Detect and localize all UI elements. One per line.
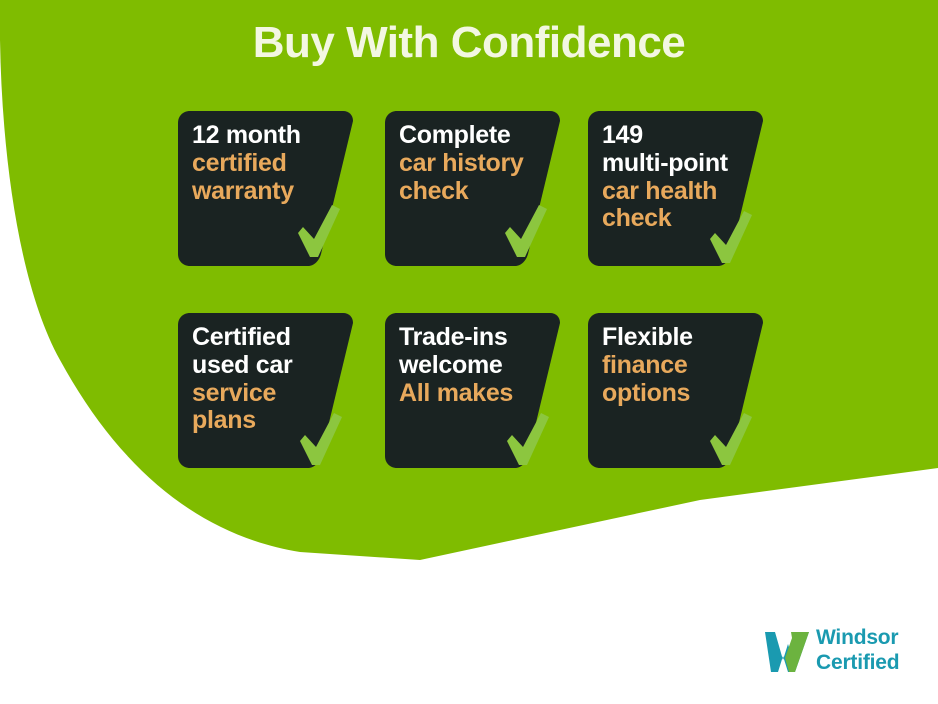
feature-card-trade-ins-welcome-all-makes[interactable]: Trade-ins welcome All makes [385, 313, 560, 468]
card-line: 149 [602, 122, 752, 150]
card-line: certified [192, 150, 342, 178]
check-mark-icon [708, 411, 754, 469]
card-line: car history [399, 150, 549, 178]
card-line: multi-point [602, 150, 752, 178]
poster-canvas: Buy With Confidence 12 month certified w… [0, 0, 938, 704]
card-line: Trade-ins [399, 324, 549, 352]
windsor-w-icon [764, 630, 810, 674]
card-line: Flexible [602, 324, 752, 352]
card-text: Flexible finance options [602, 324, 752, 407]
card-line: Certified [192, 324, 342, 352]
brand-logo[interactable]: Windsor Certified [764, 626, 924, 682]
feature-card-flexible-finance-options[interactable]: Flexible finance options [588, 313, 763, 468]
card-line: All makes [399, 380, 549, 408]
card-line: 12 month [192, 122, 342, 150]
logo-line-2: Certified [816, 651, 899, 676]
check-mark-icon [708, 209, 754, 267]
card-line: Complete [399, 122, 549, 150]
card-text: 12 month certified warranty [192, 122, 342, 205]
page-title: Buy With Confidence [0, 18, 938, 68]
card-line: check [399, 178, 549, 206]
check-mark-icon [296, 203, 342, 261]
check-mark-icon [505, 411, 551, 469]
card-line: service [192, 380, 342, 408]
card-line: warranty [192, 178, 342, 206]
feature-card-certified-used-car-service-plans[interactable]: Certified used car service plans [178, 313, 353, 468]
card-line: finance [602, 352, 752, 380]
card-line: car health [602, 178, 752, 206]
card-line: options [602, 380, 752, 408]
card-line: used car [192, 352, 342, 380]
logo-wordmark: Windsor Certified [816, 626, 899, 676]
feature-card-149-multi-point-car-health-check[interactable]: 149 multi-point car health check [588, 111, 763, 266]
check-mark-icon [503, 203, 549, 261]
feature-card-complete-car-history-check[interactable]: Complete car history check [385, 111, 560, 266]
card-text: Trade-ins welcome All makes [399, 324, 549, 407]
card-text: Complete car history check [399, 122, 549, 205]
check-mark-icon [298, 411, 344, 469]
feature-card-12-month-certified-warranty[interactable]: 12 month certified warranty [178, 111, 353, 266]
card-line: welcome [399, 352, 549, 380]
logo-line-1: Windsor [816, 626, 899, 651]
